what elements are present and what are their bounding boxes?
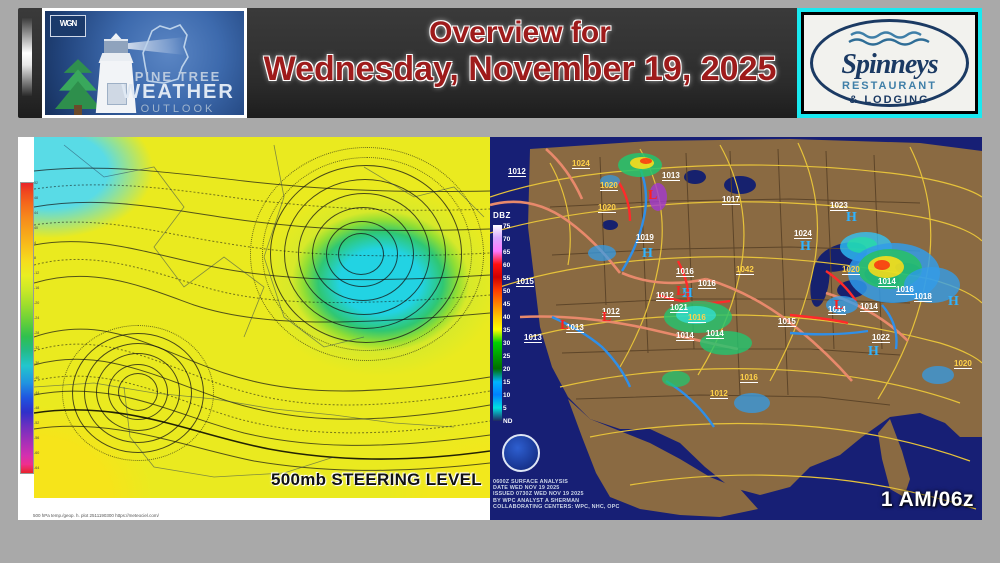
- low-pressure-marker: L: [648, 189, 657, 203]
- isobar-label: 1018: [914, 292, 932, 302]
- isobar-label: 1016: [896, 285, 914, 295]
- spinneys-sponsor-logo[interactable]: Spinneys RESTAURANT & LODGING: [797, 8, 982, 118]
- high-pressure-marker: H: [868, 345, 879, 359]
- title-line-1: Overview for: [255, 16, 785, 50]
- isobar-label: 1042: [736, 265, 754, 275]
- spinneys-sub-1: RESTAURANT: [804, 80, 975, 92]
- isobar-label: 1014: [860, 302, 878, 312]
- logo-line-2: WEATHER: [118, 81, 238, 104]
- colorbar-labels: 5248 4440 48 -12-16 -20-24 -28-32 -36-40…: [34, 182, 50, 472]
- surface-basemap: DBZ 7570 6560 5550 4540 3530 2520 1510 5…: [490, 137, 982, 520]
- isobar-label: 1020: [598, 203, 616, 213]
- isobar-label: 1024: [572, 159, 590, 169]
- isobar-label: 1014: [878, 277, 896, 287]
- map-500mb-label: 500mb STEERING LEVEL: [271, 470, 482, 490]
- isobar-label: 1021: [670, 303, 688, 313]
- broadcast-slide: WGN PINE TREE WEATHER OUTLOOK: [0, 0, 1000, 563]
- maps-row: 5248 4440 48 -12-16 -20-24 -28-32 -36-40…: [18, 137, 982, 520]
- dbz-legend-title: DBZ: [493, 211, 511, 220]
- surface-analysis-text: 0600Z SURFACE ANALYSIS DATE WED NOV 19 2…: [493, 479, 620, 510]
- isobar-label: 1015: [516, 277, 534, 287]
- spinneys-sub-2: & LODGING: [804, 94, 975, 106]
- slide-title: Overview for Wednesday, November 19, 202…: [255, 16, 785, 88]
- isobar-label: 1012: [508, 167, 526, 177]
- noaa-seal-icon: [502, 434, 540, 472]
- isobar-label: 1022: [872, 333, 890, 343]
- map-credit-text: 500 hPa temp./geop. h. plot 2511190300 h…: [33, 513, 159, 518]
- isobar-label: 1020: [600, 181, 618, 191]
- low-pressure-marker: L: [602, 311, 611, 325]
- analysis-line-5: COLLABORATING CENTERS: WPC, NHC, OPC: [493, 504, 620, 510]
- isobar-label: 1020: [954, 359, 972, 369]
- isobar-label: 1014: [706, 329, 724, 339]
- isobar-label: 1013: [524, 333, 542, 343]
- dbz-colorbar: [493, 225, 502, 421]
- isobar-label: 1020: [842, 265, 860, 275]
- waves-icon: [847, 29, 933, 49]
- isobar-label: 1016: [698, 279, 716, 289]
- isobar-label: 1014: [676, 331, 694, 341]
- map-500mb-steering-level[interactable]: 5248 4440 48 -12-16 -20-24 -28-32 -36-40…: [18, 137, 490, 520]
- spinneys-brand-text: Spinneys: [804, 49, 975, 81]
- isobar-label: 1013: [662, 171, 680, 181]
- wgn-badge: WGN: [50, 15, 86, 37]
- high-pressure-marker: H: [800, 240, 811, 254]
- temperature-field: [34, 137, 490, 498]
- map-surface-analysis[interactable]: DBZ 7570 6560 5550 4540 3530 2520 1510 5…: [490, 137, 982, 520]
- high-pressure-marker: H: [948, 295, 959, 309]
- title-line-2: Wednesday, November 19, 2025: [255, 50, 785, 88]
- high-pressure-marker: H: [642, 247, 653, 261]
- isobar-label: 1017: [722, 195, 740, 205]
- dbz-legend-labels: 7570 6560 5550 4540 3530 2520 1510 5ND: [503, 221, 521, 431]
- low-pressure-marker: L: [834, 299, 843, 313]
- isobar-label: 1019: [636, 233, 654, 243]
- height-contours: [34, 137, 490, 498]
- isobar-label: 1024: [794, 229, 812, 239]
- high-pressure-marker: H: [846, 211, 857, 225]
- low-pressure-marker: L: [560, 319, 569, 333]
- pine-tree-weather-logo[interactable]: WGN PINE TREE WEATHER OUTLOOK: [42, 8, 247, 118]
- logo-face: Spinneys RESTAURANT & LODGING: [804, 15, 975, 111]
- low-pressure-marker: L: [676, 285, 685, 299]
- wgn-badge-label: WGN: [51, 19, 85, 28]
- isobar-label: 1015: [778, 317, 796, 327]
- isobar-label: 1012: [656, 291, 674, 301]
- isobar-label: 1012: [710, 389, 728, 399]
- temperature-colorbar: [20, 182, 34, 474]
- logo-wordmark: PINE TREE WEATHER OUTLOOK: [118, 69, 238, 115]
- map-timestamp: 1 AM/06z: [881, 488, 974, 512]
- isobar-label: 1016: [688, 313, 706, 323]
- logo-frame: Spinneys RESTAURANT & LODGING: [801, 12, 978, 114]
- header-accent-tab: [22, 18, 32, 96]
- isobar-label: 1016: [740, 373, 758, 383]
- isobar-label: 1016: [676, 267, 694, 277]
- logo-line-3: OUTLOOK: [118, 103, 238, 115]
- logo-artwork: WGN PINE TREE WEATHER OUTLOOK: [45, 11, 244, 115]
